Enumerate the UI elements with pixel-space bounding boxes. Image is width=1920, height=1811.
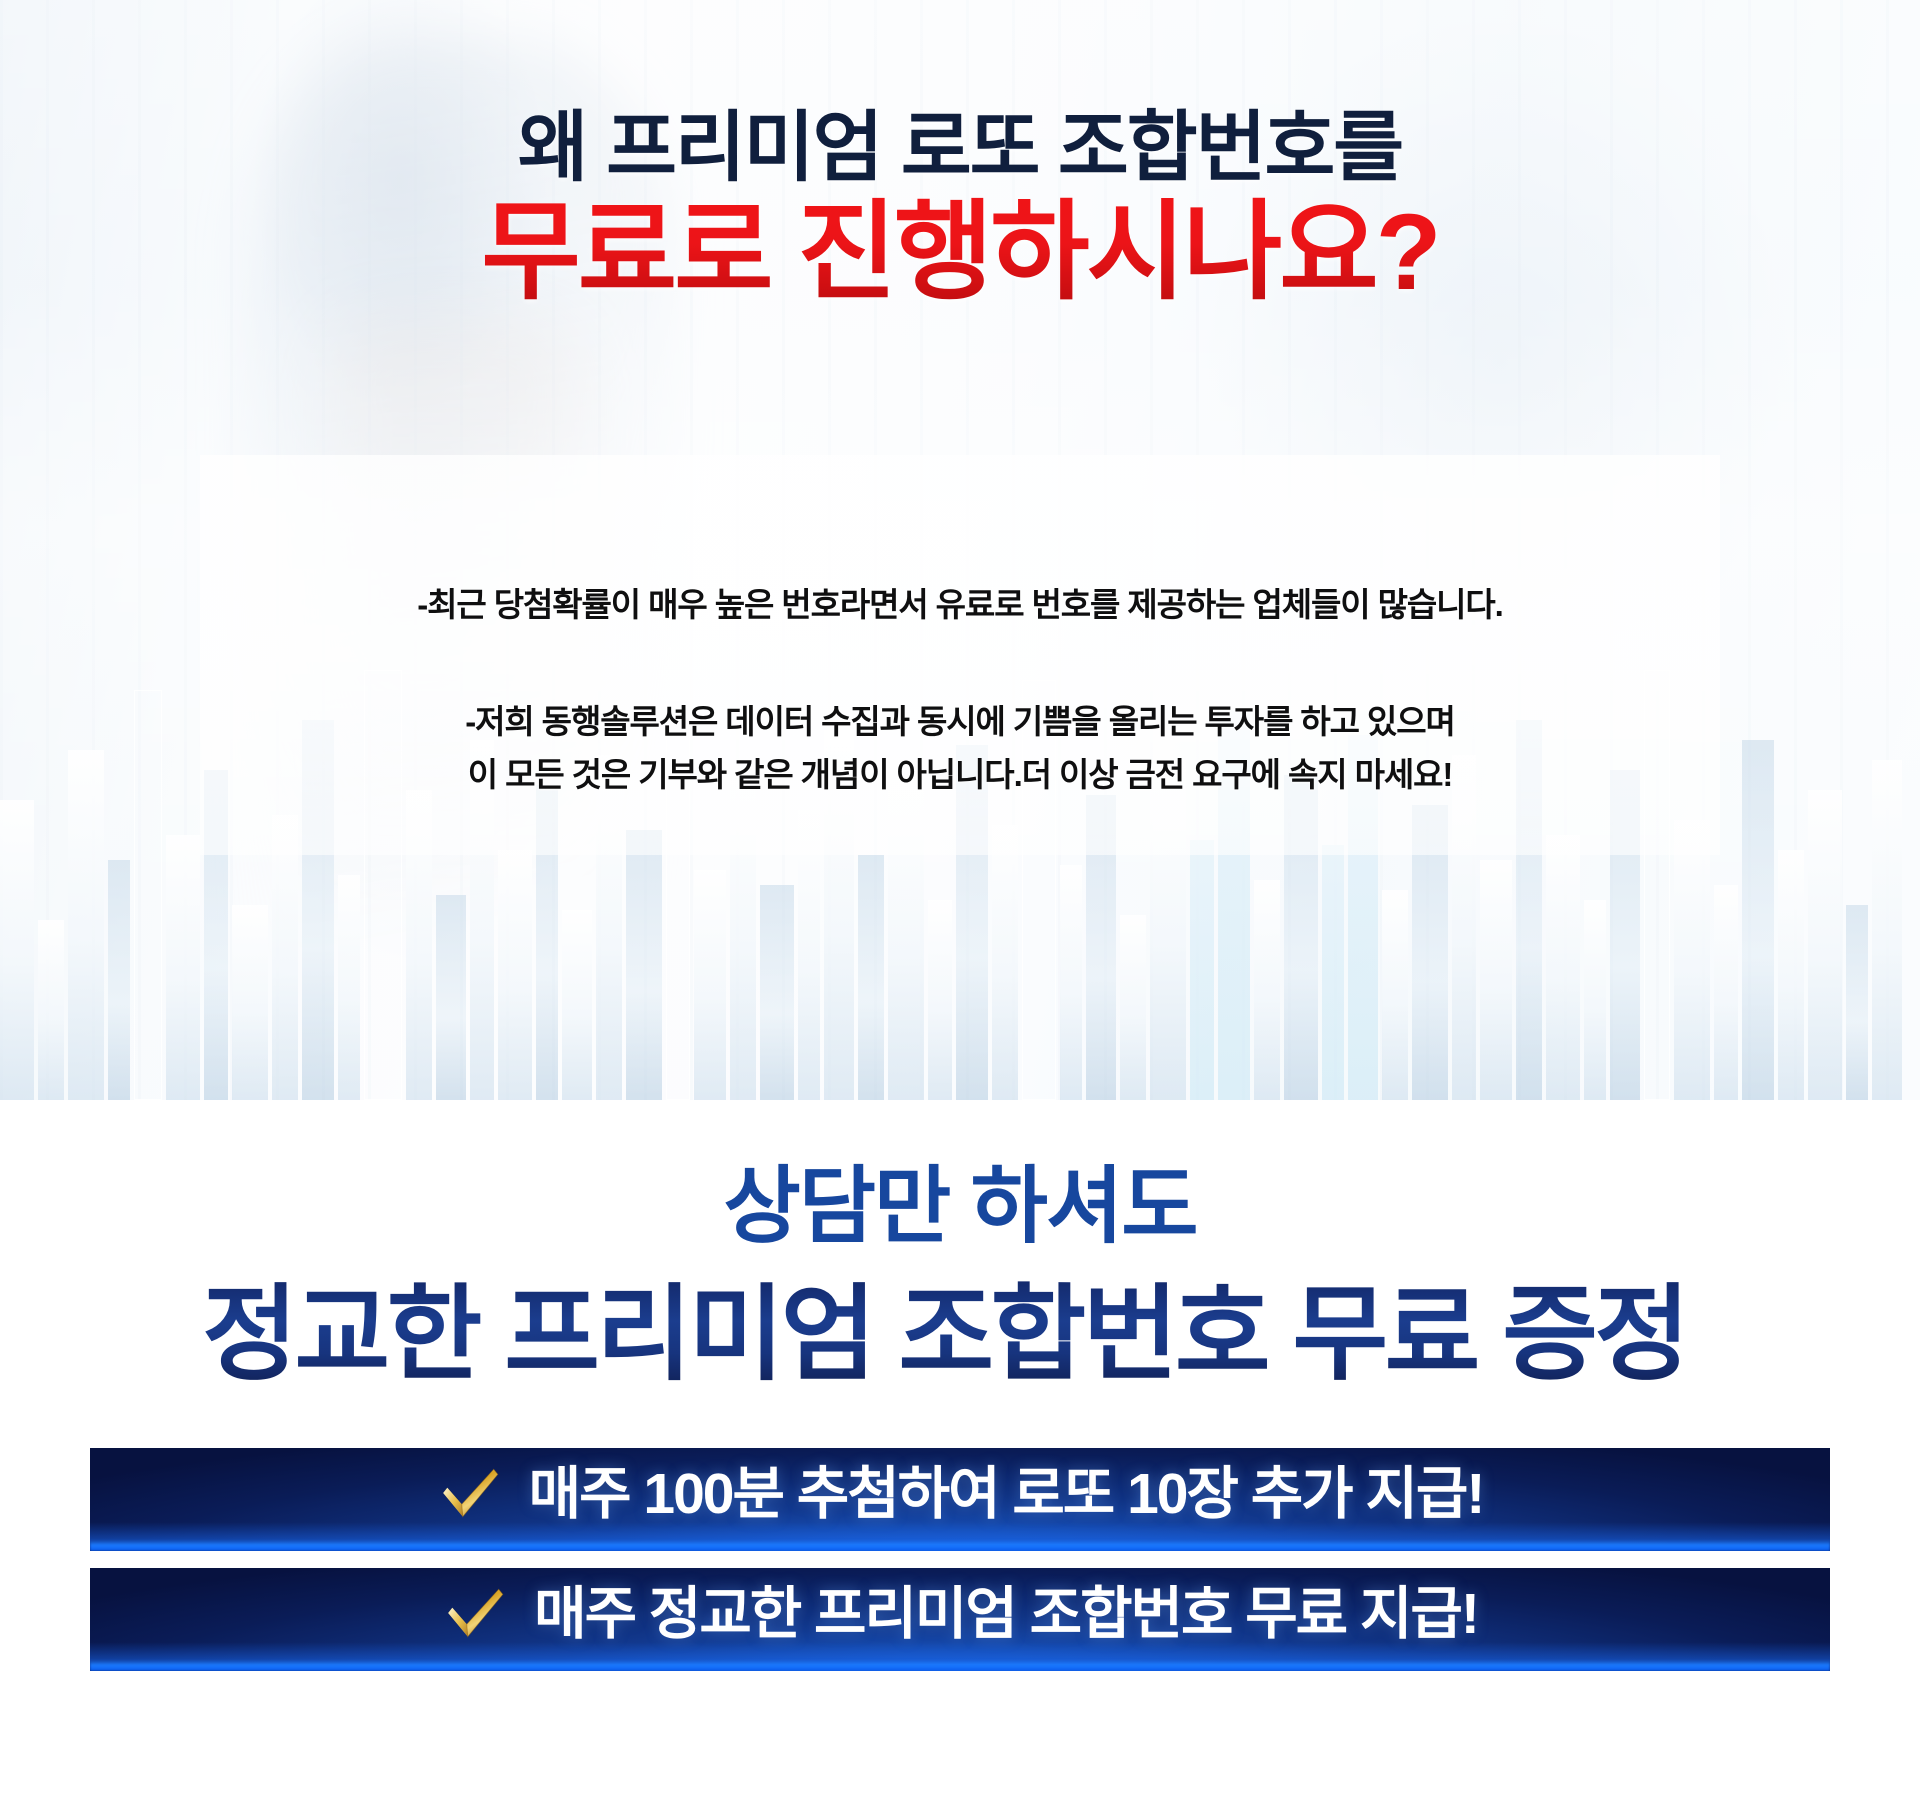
background-bar (626, 830, 662, 1100)
background-bar (68, 750, 104, 1100)
hero-section: 왜 프리미엄 로또 조합번호를 무료로 진행하시나요? -최근 당첨확률이 매우… (0, 0, 1920, 1100)
hero-body-paragraph-2: -저희 동행솔루션은 데이터 수집과 동시에 기쁨을 올리는 투자를 하고 있으… (0, 695, 1920, 802)
background-bar (498, 850, 532, 1100)
background-bar (166, 835, 200, 1100)
hero-body-paragraph-1: -최근 당첨확률이 매우 높은 번호라면서 유료로 번호를 제공하는 업체들이 … (0, 578, 1920, 631)
benefit-bar-1-content: 매주 100분 추첨하여 로또 10장 추가 지급! (437, 1462, 1484, 1528)
background-bar (1584, 900, 1606, 1100)
background-bar (1846, 905, 1868, 1100)
background-bar (1808, 790, 1842, 1100)
background-bar (1872, 760, 1902, 1100)
benefit-bar-2-content: 매주 정교한 프리미엄 조합번호 무료 지급! (442, 1582, 1478, 1648)
background-bar (1120, 915, 1146, 1100)
background-bar (1714, 885, 1738, 1100)
background-bar (1778, 850, 1804, 1100)
background-bar (1674, 820, 1710, 1100)
background-bar (436, 895, 466, 1100)
background-bar (1060, 865, 1082, 1100)
benefit-bar-1[interactable]: 매주 100분 추첨하여 로또 10장 추가 지급! (90, 1448, 1830, 1551)
background-bar (858, 855, 884, 1100)
check-icon (437, 1462, 503, 1528)
background-bar (694, 870, 726, 1100)
offer-section: 상담만 하셔도 정교한 프리미엄 조합번호 무료 증정! (0, 1100, 1920, 1811)
background-bar (38, 920, 64, 1100)
background-bar (338, 875, 360, 1100)
background-bar (1480, 860, 1512, 1100)
background-bar (992, 825, 1018, 1100)
promo-page: 왜 프리미엄 로또 조합번호를 무료로 진행하시나요? -최근 당첨확률이 매우… (0, 0, 1920, 1811)
benefit-bar-2-label: 매주 정교한 프리미엄 조합번호 무료 지급! (534, 1586, 1478, 1643)
background-bar (1382, 890, 1408, 1100)
background-bar (760, 885, 794, 1100)
background-bar (928, 900, 952, 1100)
offer-subheading: 상담만 하셔도 (0, 1160, 1920, 1252)
hero-title-line1: 왜 프리미엄 로또 조합번호를 (0, 105, 1920, 191)
offer-headline-text: 정교한 프리미엄 조합번호 무료 증정 (202, 1277, 1686, 1393)
background-bar (562, 910, 592, 1100)
benefit-bar-1-label: 매주 100분 추첨하여 로또 10장 추가 지급! (529, 1466, 1484, 1523)
background-bar (1254, 880, 1280, 1100)
background-bar (108, 860, 130, 1100)
background-bar (1322, 845, 1344, 1100)
background-bar (0, 800, 34, 1100)
background-bar (1190, 840, 1214, 1100)
background-bar (1546, 835, 1580, 1100)
hero-body-paragraph-2-line1: -저희 동행솔루션은 데이터 수집과 동시에 기쁨을 올리는 투자를 하고 있으… (0, 695, 1920, 748)
hero-body-paragraph-2-line2: 이 모든 것은 기부와 같은 개념이 아닙니다.더 이상 금전 요구에 속지 마… (0, 748, 1920, 801)
check-icon (442, 1582, 508, 1648)
hero-title-line2: 무료로 진행하시나요? (0, 192, 1920, 313)
offer-headline: 정교한 프리미엄 조합번호 무료 증정! (0, 1278, 1920, 1392)
background-bar (232, 905, 268, 1100)
background-bar (272, 815, 298, 1100)
benefit-bar-2[interactable]: 매주 정교한 프리미엄 조합번호 무료 지급! (90, 1568, 1830, 1671)
